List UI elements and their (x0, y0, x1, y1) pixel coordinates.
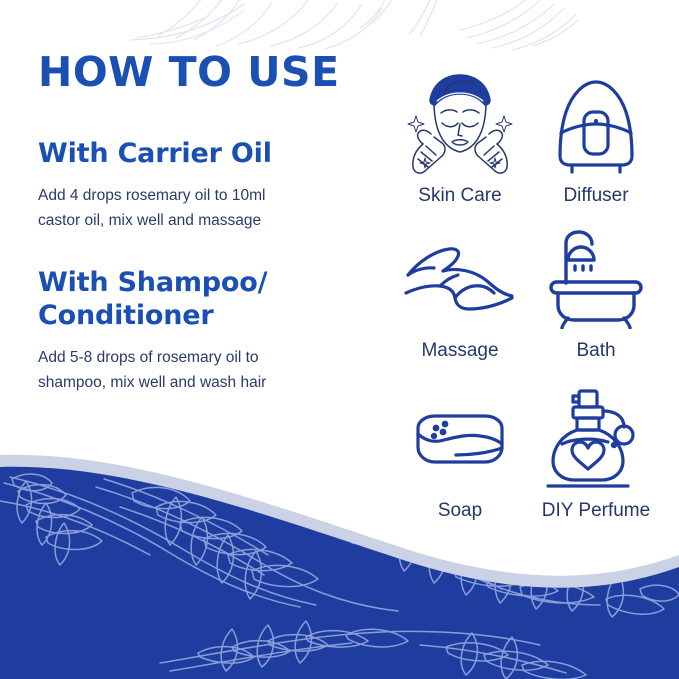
bathtub-icon (546, 225, 646, 333)
instruction-body: Add 5-8 drops of rosemary oil to shampoo… (38, 345, 348, 395)
how-to-use-poster: HOW TO USE With Carrier Oil Add 4 drops … (0, 0, 679, 679)
usage-item-massage: Massage (392, 207, 528, 362)
usage-item-label: Skin Care (418, 185, 501, 207)
page-title: HOW TO USE (38, 52, 368, 93)
instruction-heading-line1: With Shampoo/ (38, 267, 267, 298)
instruction-heading-line2: Conditioner (38, 300, 214, 331)
face-massage-icon (401, 70, 519, 178)
soap-bar-icon (414, 385, 506, 493)
instruction-body-line2: shampoo, mix well and wash hair (38, 374, 266, 391)
usage-item-label: Bath (576, 340, 615, 362)
instructions-column: HOW TO USE With Carrier Oil Add 4 drops … (38, 52, 368, 429)
instruction-body: Add 4 drops rosemary oil to 10ml castor … (38, 183, 348, 233)
usage-item-skin-care: Skin Care (392, 52, 528, 207)
diffuser-icon (550, 70, 642, 178)
usage-item-label: Soap (438, 500, 482, 522)
rosemary-sprig-outline-icon (120, 0, 580, 54)
usage-item-label: Massage (421, 340, 498, 362)
instruction-body-line1: Add 5-8 drops of rosemary oil to (38, 349, 259, 366)
instruction-block-carrier-oil: With Carrier Oil Add 4 drops rosemary oi… (38, 138, 368, 233)
usage-item-diffuser: Diffuser (528, 52, 664, 207)
usage-item-bath: Bath (528, 207, 664, 362)
usage-item-label: DIY Perfume (542, 500, 650, 522)
instruction-body-line1: Add 4 drops rosemary oil to 10ml (38, 187, 265, 204)
hand-massage-icon (403, 225, 517, 333)
instruction-heading: With Carrier Oil (38, 138, 368, 171)
usage-item-label: Diffuser (563, 185, 628, 207)
usage-item-soap: Soap (392, 362, 528, 522)
instruction-block-shampoo: With Shampoo/ Conditioner Add 5-8 drops … (38, 267, 368, 395)
usage-icon-grid: Skin Care Diffuser (392, 52, 664, 522)
instruction-heading: With Shampoo/ Conditioner (38, 267, 368, 333)
perfume-bottle-icon (544, 385, 648, 493)
usage-item-diy-perfume: DIY Perfume (528, 362, 664, 522)
instruction-body-line2: castor oil, mix well and massage (38, 212, 261, 229)
